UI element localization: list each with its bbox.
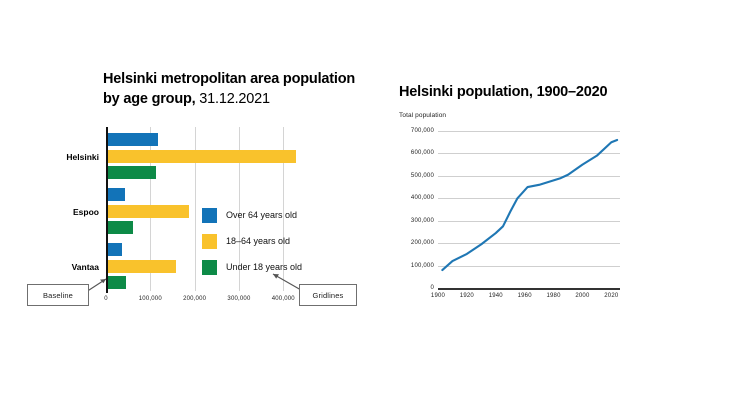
bar-chart-panel: Helsinki metropolitan area population by… (0, 0, 380, 413)
bar-fill (106, 188, 125, 201)
line-y-tick-label: 600,000 (411, 150, 434, 156)
bar-rect (106, 243, 122, 256)
line-chart-panel: Helsinki population, 1900–2020 Total pop… (380, 0, 735, 413)
legend-item[interactable]: Under 18 years old (202, 255, 332, 279)
bar-fill (106, 150, 296, 163)
bar-rect (106, 205, 189, 218)
legend-item[interactable]: 18–64 years old (202, 229, 332, 253)
bar-rect (106, 188, 125, 201)
legend-swatch (202, 260, 217, 275)
bar-x-tick-label: 100,000 (139, 296, 162, 302)
bar-group-helsinki: Helsinki (106, 133, 301, 179)
line-x-tick-label: 1980 (546, 293, 560, 299)
bar-rect (106, 133, 158, 146)
line-y-tick-label: 0 (430, 285, 434, 291)
legend-swatch (202, 208, 217, 223)
line-y-tick-label: 500,000 (411, 173, 434, 179)
legend-label: 18–64 years old (226, 236, 290, 246)
bar-x-tick-label: 0 (104, 296, 108, 302)
line-chart-baseline-axis (438, 288, 620, 290)
legend-item[interactable]: Over 64 years old (202, 203, 332, 227)
bar-rect (106, 150, 296, 163)
callout-gridlines-left[interactable]: Gridlines (299, 284, 357, 306)
bar-chart-x-tick-labels: 0100,000200,000300,000400,000 (106, 296, 301, 308)
line-y-tick-label: 400,000 (411, 195, 434, 201)
line-x-tick-label: 2000 (575, 293, 589, 299)
bar-chart-baseline-axis (106, 127, 108, 293)
bar-fill (106, 133, 158, 146)
bar-chart-title-date: 31.12.2021 (195, 91, 269, 107)
line-x-tick-label: 1960 (518, 293, 532, 299)
bar-x-tick-label: 400,000 (272, 296, 295, 302)
line-y-tick-label: 300,000 (411, 218, 434, 224)
bar-rect (106, 276, 126, 289)
bar-fill (106, 260, 176, 273)
legend-label: Under 18 years old (226, 262, 302, 272)
line-chart-title: Helsinki population, 1900–2020 (399, 83, 649, 103)
figure-canvas: Helsinki metropolitan area population by… (0, 0, 735, 413)
line-x-tick-label: 1920 (460, 293, 474, 299)
line-y-tick-label: 200,000 (411, 240, 434, 246)
bar-chart-title: Helsinki metropolitan area population by… (103, 70, 358, 109)
line-x-tick-label: 2020 (604, 293, 618, 299)
callout-gridlines-left-label: Gridlines (313, 291, 344, 300)
bar-fill (106, 205, 189, 218)
line-x-tick-label: 1900 (431, 293, 445, 299)
line-x-tick-label: 1940 (489, 293, 503, 299)
bar-x-tick-label: 300,000 (227, 296, 250, 302)
bar-fill (106, 276, 126, 289)
bar-category-label: Espoo (73, 207, 99, 217)
bar-category-label: Vantaa (72, 262, 99, 272)
legend-label: Over 64 years old (226, 210, 297, 220)
bar-fill (106, 166, 156, 179)
bar-x-tick-label: 200,000 (183, 296, 206, 302)
line-y-tick-label: 100,000 (411, 263, 434, 269)
bar-fill (106, 221, 133, 234)
bar-fill (106, 243, 122, 256)
bar-rect (106, 260, 176, 273)
bar-chart-legend: Over 64 years old18–64 years oldUnder 18… (202, 203, 332, 281)
line-y-tick-label: 700,000 (411, 128, 434, 134)
callout-baseline-left-label: Baseline (43, 291, 73, 300)
bar-rect (106, 221, 133, 234)
bar-category-label: Helsinki (66, 152, 99, 162)
bar-rect (106, 166, 156, 179)
legend-swatch (202, 234, 217, 249)
line-chart-axis-note: Total population (399, 112, 446, 119)
callout-baseline-left[interactable]: Baseline (27, 284, 89, 306)
line-chart-plot-area: 0100,000200,000300,000400,000500,000600,… (438, 131, 620, 288)
line-chart-series (438, 131, 620, 288)
line-chart-x-tick-labels: 1900192019401960198020002020 (438, 293, 620, 305)
